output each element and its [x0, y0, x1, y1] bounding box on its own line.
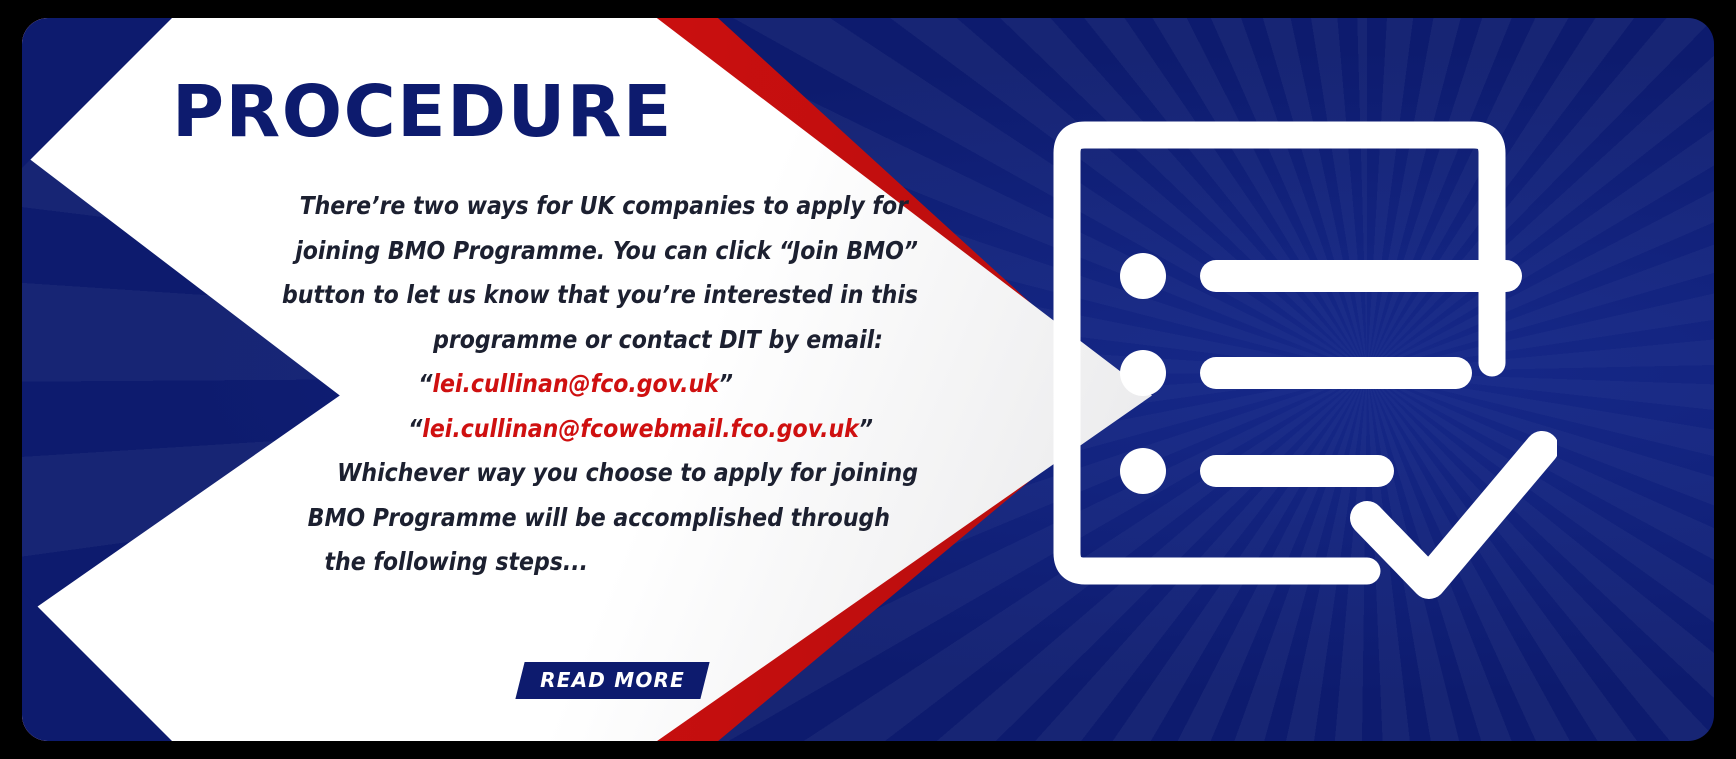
text-content: PROCEDURE There’re two ways for UK compa…	[172, 18, 912, 741]
email-address-secondary[interactable]: lei.cullinan@fcowebmail.fco.gov.uk	[422, 414, 859, 443]
body-line-8: BMO Programme will be accomplished throu…	[170, 496, 918, 541]
body-line-2: joining BMO Programme. You can click “Jo…	[170, 229, 918, 274]
body-line-4: programme or contact DIT by email:	[170, 318, 918, 363]
read-more-container: READ MORE	[520, 662, 705, 699]
quote-close-1: ”	[719, 369, 733, 398]
page-title: PROCEDURE	[172, 70, 673, 153]
body-paragraph: There’re two ways for UK companies to ap…	[170, 184, 918, 585]
read-more-label: READ MORE	[540, 668, 685, 692]
email-address-primary[interactable]: lei.cullinan@fco.gov.uk	[432, 369, 718, 398]
procedure-banner: PROCEDURE There’re two ways for UK compa…	[0, 0, 1736, 759]
body-line-9: the following steps...	[170, 540, 918, 585]
checklist-clipboard-check-icon	[1037, 93, 1557, 613]
quote-close-2: ”	[859, 414, 873, 443]
read-more-button[interactable]: READ MORE	[515, 662, 709, 699]
email-line-2: “lei.cullinan@fcowebmail.fco.gov.uk”	[170, 407, 918, 452]
banner-card: PROCEDURE There’re two ways for UK compa…	[22, 18, 1714, 741]
email-line-1: “lei.cullinan@fco.gov.uk”	[170, 362, 918, 407]
quote-open-2: “	[408, 414, 422, 443]
body-line-7: Whichever way you choose to apply for jo…	[170, 451, 918, 496]
body-line-1: There’re two ways for UK companies to ap…	[170, 184, 918, 229]
body-line-3: button to let us know that you’re intere…	[170, 273, 918, 318]
quote-open-1: “	[418, 369, 432, 398]
